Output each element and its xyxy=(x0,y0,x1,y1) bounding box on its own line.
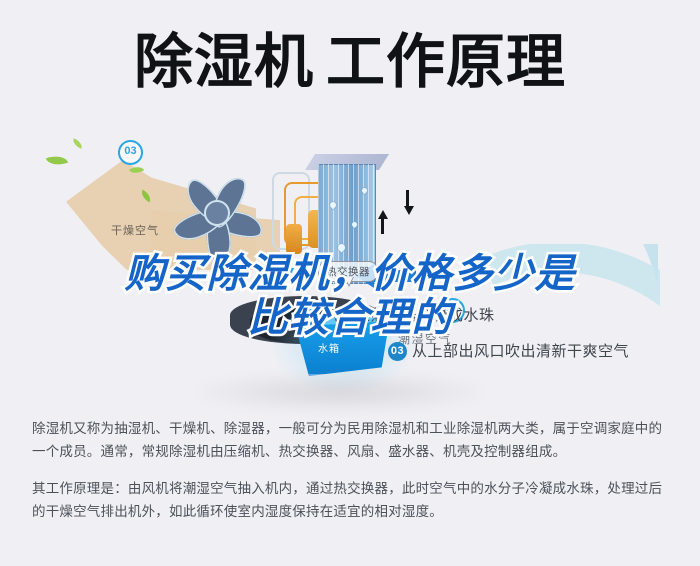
flow-arrow-down-icon xyxy=(404,206,414,215)
caption-02: 02气经过蒸发器冷凝成水珠 xyxy=(300,304,495,325)
title-part-2: 工作原理 xyxy=(326,27,566,96)
paragraph-2: 其工作原理是：由风机将潮湿空气抽入机内，通过热交换器，此时空气中的水分子冷凝成水… xyxy=(32,478,672,524)
page-root: 除湿机工作原理 干燥空气 xyxy=(0,0,700,566)
fan-icon xyxy=(172,170,268,260)
flow-arrow-up-icon xyxy=(378,210,388,219)
page-title: 除湿机工作原理 xyxy=(0,28,700,96)
paragraph-1: 除湿机又称为抽湿机、干燥机、除湿器，一般可分为民用除湿机和工业除湿机两大类，属于… xyxy=(32,418,672,464)
badge-03: 03 xyxy=(118,140,143,165)
bottom-shadow xyxy=(190,372,490,412)
callout-pointer-icon xyxy=(344,277,354,287)
badge-02: 02 xyxy=(290,262,315,287)
illustration-stage: 干燥空气 xyxy=(0,118,700,396)
caption-03: 03从上部出风口吹出清新干爽空气 xyxy=(388,340,629,361)
title-part-1: 除湿机 xyxy=(134,27,314,96)
caption-03-text: 从上部出风口吹出清新干爽空气 xyxy=(412,343,629,360)
caption-03-number: 03 xyxy=(388,342,407,361)
caption-02-number: 02 xyxy=(300,306,319,325)
flow-arrow-stem xyxy=(406,190,409,206)
title-text: 除湿机工作原理 xyxy=(134,28,566,96)
water-tank-label: 水箱 xyxy=(318,340,340,355)
leaf-icon xyxy=(71,138,84,149)
body-copy: 除湿机又称为抽湿机、干燥机、除湿器，一般可分为民用除湿机和工业除湿机两大类，属于… xyxy=(32,418,672,538)
dry-air-label: 干燥空气 xyxy=(111,222,159,238)
flow-arrow-stem xyxy=(381,218,384,234)
leaf-icon xyxy=(46,152,68,169)
caption-02-text: 气经过蒸发器冷凝成水珠 xyxy=(324,307,495,324)
